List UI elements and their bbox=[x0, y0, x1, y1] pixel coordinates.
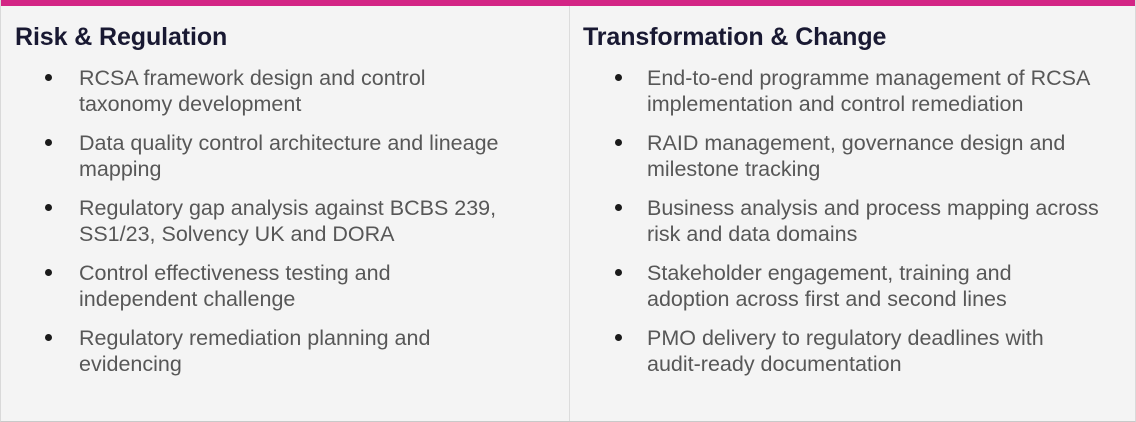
bullet-dot-icon bbox=[615, 334, 622, 341]
list-item-text: Control effectiveness testing and indepe… bbox=[79, 260, 509, 312]
bullet-list-risk-regulation: RCSA framework design and control taxono… bbox=[1, 65, 569, 377]
bullet-list-transformation-change: End-to-end programme management of RCSA … bbox=[570, 65, 1136, 377]
list-item-text: Regulatory gap analysis against BCBS 239… bbox=[79, 195, 509, 247]
list-item: RCSA framework design and control taxono… bbox=[1, 65, 569, 117]
bullet-dot-icon bbox=[45, 204, 52, 211]
bullet-dot-icon bbox=[615, 204, 622, 211]
bullet-dot-icon bbox=[45, 139, 52, 146]
bullet-dot-icon bbox=[45, 334, 52, 341]
list-item-text: PMO delivery to regulatory deadlines wit… bbox=[647, 325, 1099, 377]
column-transformation-change: Transformation & Change End-to-end progr… bbox=[569, 6, 1136, 421]
bullet-dot-icon bbox=[615, 269, 622, 276]
bullet-dot-icon bbox=[615, 74, 622, 81]
list-item: RAID management, governance design and m… bbox=[570, 130, 1136, 182]
list-item-text: Data quality control architecture and li… bbox=[79, 130, 509, 182]
list-item-text: Stakeholder engagement, training and ado… bbox=[647, 260, 1099, 312]
bullet-dot-icon bbox=[615, 139, 622, 146]
capability-slide: Risk & Regulation RCSA framework design … bbox=[0, 0, 1136, 422]
bullet-dot-icon bbox=[45, 269, 52, 276]
list-item-text: RAID management, governance design and m… bbox=[647, 130, 1099, 182]
list-item: Regulatory remediation planning and evid… bbox=[1, 325, 569, 377]
bullet-dot-icon bbox=[45, 74, 52, 81]
list-item: Regulatory gap analysis against BCBS 239… bbox=[1, 195, 569, 247]
column-title-transformation-change: Transformation & Change bbox=[570, 6, 1136, 50]
list-item: PMO delivery to regulatory deadlines wit… bbox=[570, 325, 1136, 377]
list-item: Business analysis and process mapping ac… bbox=[570, 195, 1136, 247]
column-risk-regulation: Risk & Regulation RCSA framework design … bbox=[1, 6, 569, 421]
column-title-risk-regulation: Risk & Regulation bbox=[1, 6, 569, 50]
list-item: Stakeholder engagement, training and ado… bbox=[570, 260, 1136, 312]
list-item-text: RCSA framework design and control taxono… bbox=[79, 65, 509, 117]
list-item: Data quality control architecture and li… bbox=[1, 130, 569, 182]
list-item: End-to-end programme management of RCSA … bbox=[570, 65, 1136, 117]
list-item-text: Regulatory remediation planning and evid… bbox=[79, 325, 509, 377]
list-item: Control effectiveness testing and indepe… bbox=[1, 260, 569, 312]
list-item-text: End-to-end programme management of RCSA … bbox=[647, 65, 1099, 117]
columns-container: Risk & Regulation RCSA framework design … bbox=[1, 6, 1135, 421]
list-item-text: Business analysis and process mapping ac… bbox=[647, 195, 1099, 247]
